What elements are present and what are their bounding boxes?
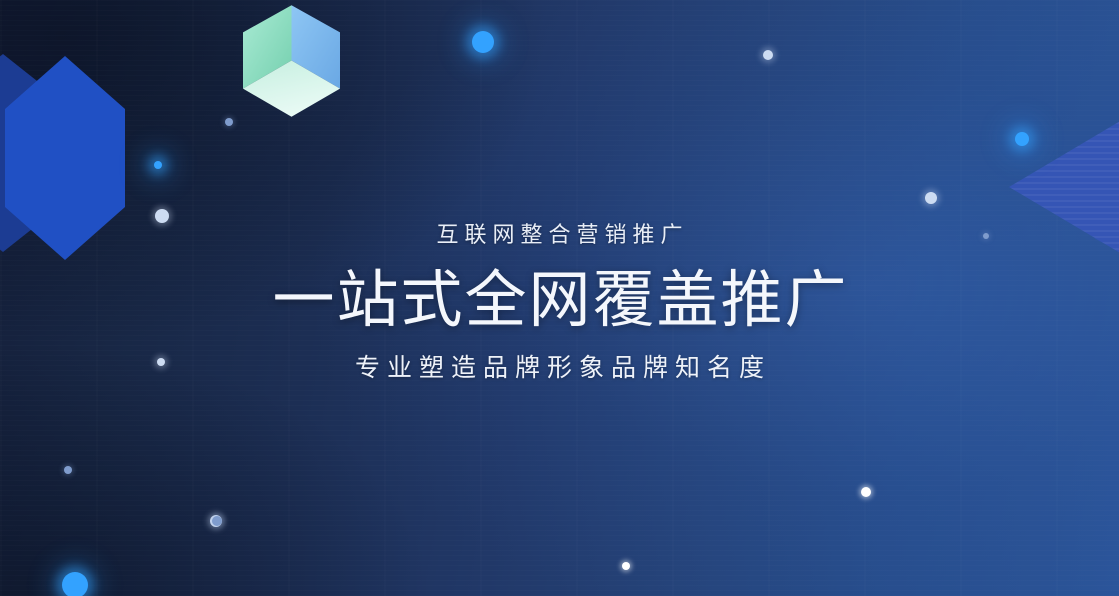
glow-dot: [225, 118, 233, 126]
glow-dot: [1015, 132, 1029, 146]
glow-dot: [62, 572, 88, 596]
glow-dot: [154, 161, 162, 169]
hero-eyebrow: 互联网整合营销推广: [0, 222, 1119, 251]
glow-dot: [472, 31, 494, 53]
cube-logo-icon: [243, 5, 340, 117]
hero-text-block: 互联网整合营销推广 一站式全网覆盖推广 专业塑造品牌形象品牌知名度: [0, 222, 1119, 385]
glow-dot: [861, 487, 871, 497]
glow-dot: [763, 50, 773, 60]
hero-subline: 专业塑造品牌形象品牌知名度: [0, 352, 1119, 385]
glow-dot: [155, 209, 169, 223]
glow-dot: [925, 192, 937, 204]
glow-dot: [622, 562, 630, 570]
glow-dot: [212, 516, 222, 526]
hero-banner: 互联网整合营销推广 一站式全网覆盖推广 专业塑造品牌形象品牌知名度: [0, 0, 1119, 596]
glow-dot: [64, 466, 72, 474]
hero-headline: 一站式全网覆盖推广: [0, 265, 1119, 334]
